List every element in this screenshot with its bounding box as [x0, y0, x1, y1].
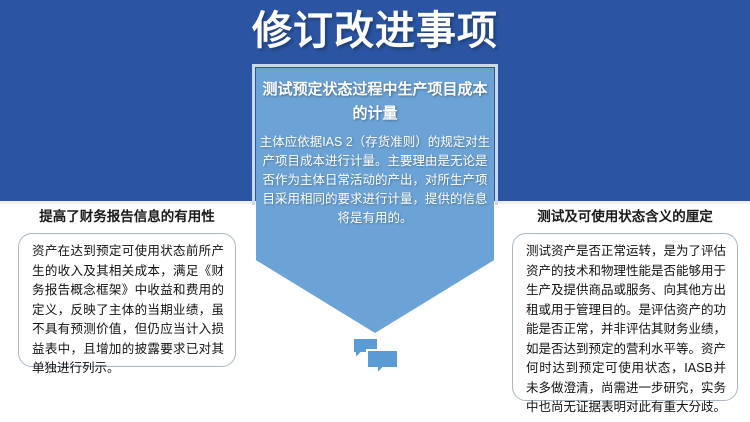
right-column-text: 测试资产是否正常运转，是为了评估资产的技术和物理性能是否能够用于生产及提供商品或…	[526, 242, 726, 418]
center-callout-heading: 测试预定状态过程中生产项目成本的计量	[262, 78, 488, 126]
page-title: 修订改进事项	[0, 6, 750, 56]
right-column-heading: 测试及可使用状态含义的厘定	[508, 208, 742, 226]
left-column-heading: 提高了财务报告信息的有用性	[14, 208, 240, 226]
left-column-text: 资产在达到预定可使用状态前所产生的收入及其相关成本，满足《财务报告概念框架》中收…	[32, 242, 224, 379]
slide-canvas: 修订改进事项 测试预定状态过程中生产项目成本的计量 主体应依据IAS 2（存货准…	[0, 0, 750, 422]
speech-bubble-front-icon	[367, 350, 398, 374]
center-callout-body: 主体应依据IAS 2（存货准则）的规定对生产项目成本进行计量。主要理由是无论是否…	[258, 133, 492, 228]
speech-bubbles-icon	[352, 337, 400, 375]
